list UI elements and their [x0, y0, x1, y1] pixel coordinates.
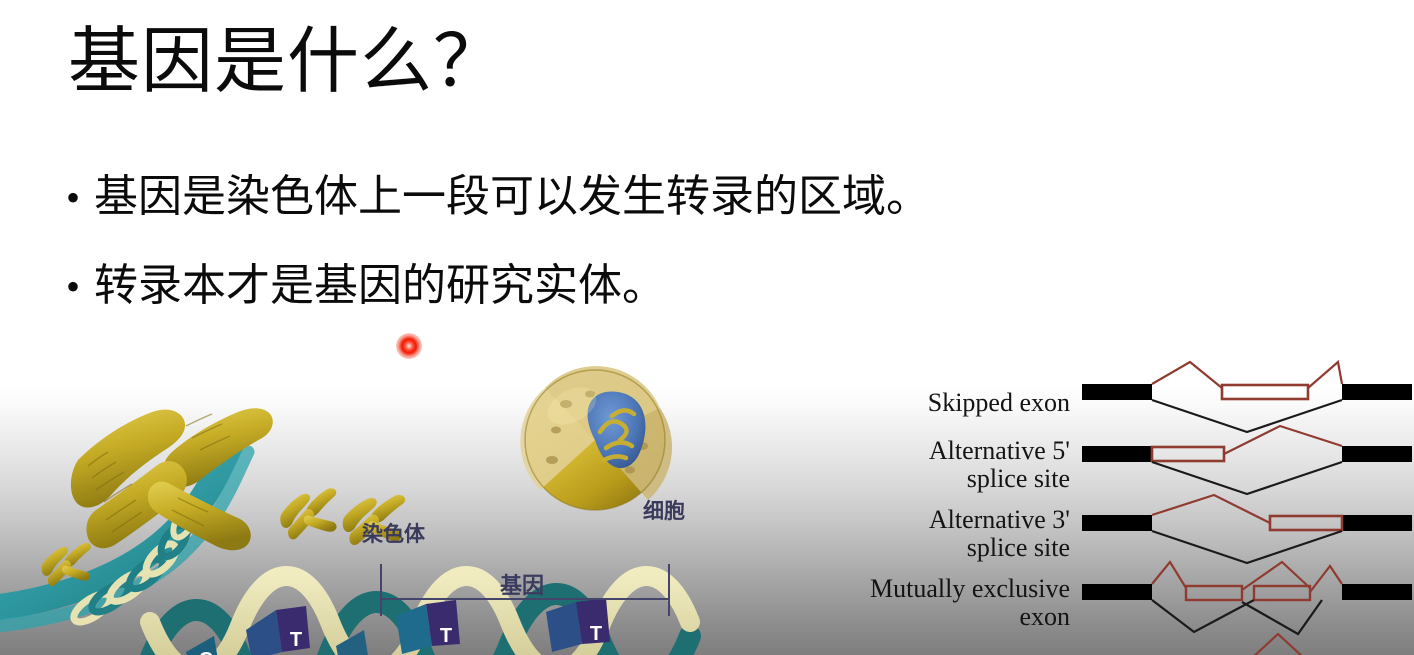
gene-bracket-left-tick [380, 564, 382, 616]
splice-event-label: Alternative 5'splice site [826, 437, 1082, 492]
gene-label: 基因 [500, 568, 544, 600]
presentation-slide: T T T C A 染色体 细胞 基因 Skipped exon [0, 0, 1414, 655]
svg-text:C: C [199, 649, 213, 655]
splice-event-label: Mutually exclusiveexon [826, 575, 1082, 630]
alternative-first-exon-art [1082, 628, 1414, 655]
bullet-list: • 基因是染色体上一段可以发生转录的区域。 • 转录本才是基因的研究实体。 [66, 172, 1166, 351]
gene-bracket-right-tick [668, 564, 670, 616]
svg-text:T: T [290, 629, 302, 651]
laser-pointer-icon [396, 333, 422, 359]
bullet-text: 转录本才是基因的研究实体。 [94, 261, 666, 310]
chromosome-label: 染色体 [362, 518, 425, 548]
bullet-marker-icon: • [66, 178, 80, 218]
svg-text:T: T [440, 625, 452, 647]
bullet-item: • 基因是染色体上一段可以发生转录的区域。 [66, 172, 1166, 221]
bullet-marker-icon: • [66, 267, 80, 307]
svg-text:T: T [590, 623, 602, 645]
splice-event-label: Alternative 3'splice site [826, 506, 1082, 561]
splice-event-alternative-first-exon: Alternative first [826, 628, 1414, 655]
cell-sphere [520, 366, 672, 510]
bullet-text: 基因是染色体上一段可以发生转录的区域。 [94, 172, 930, 221]
page-title: 基因是什么？ [68, 26, 506, 98]
splice-event-label: Skipped exon [826, 389, 1082, 417]
alternative-splicing-diagram: Skipped exon Alternative 5'splice site [826, 358, 1414, 655]
bullet-item: • 转录本才是基因的研究实体。 [66, 261, 1166, 310]
cell-label: 细胞 [643, 495, 685, 525]
